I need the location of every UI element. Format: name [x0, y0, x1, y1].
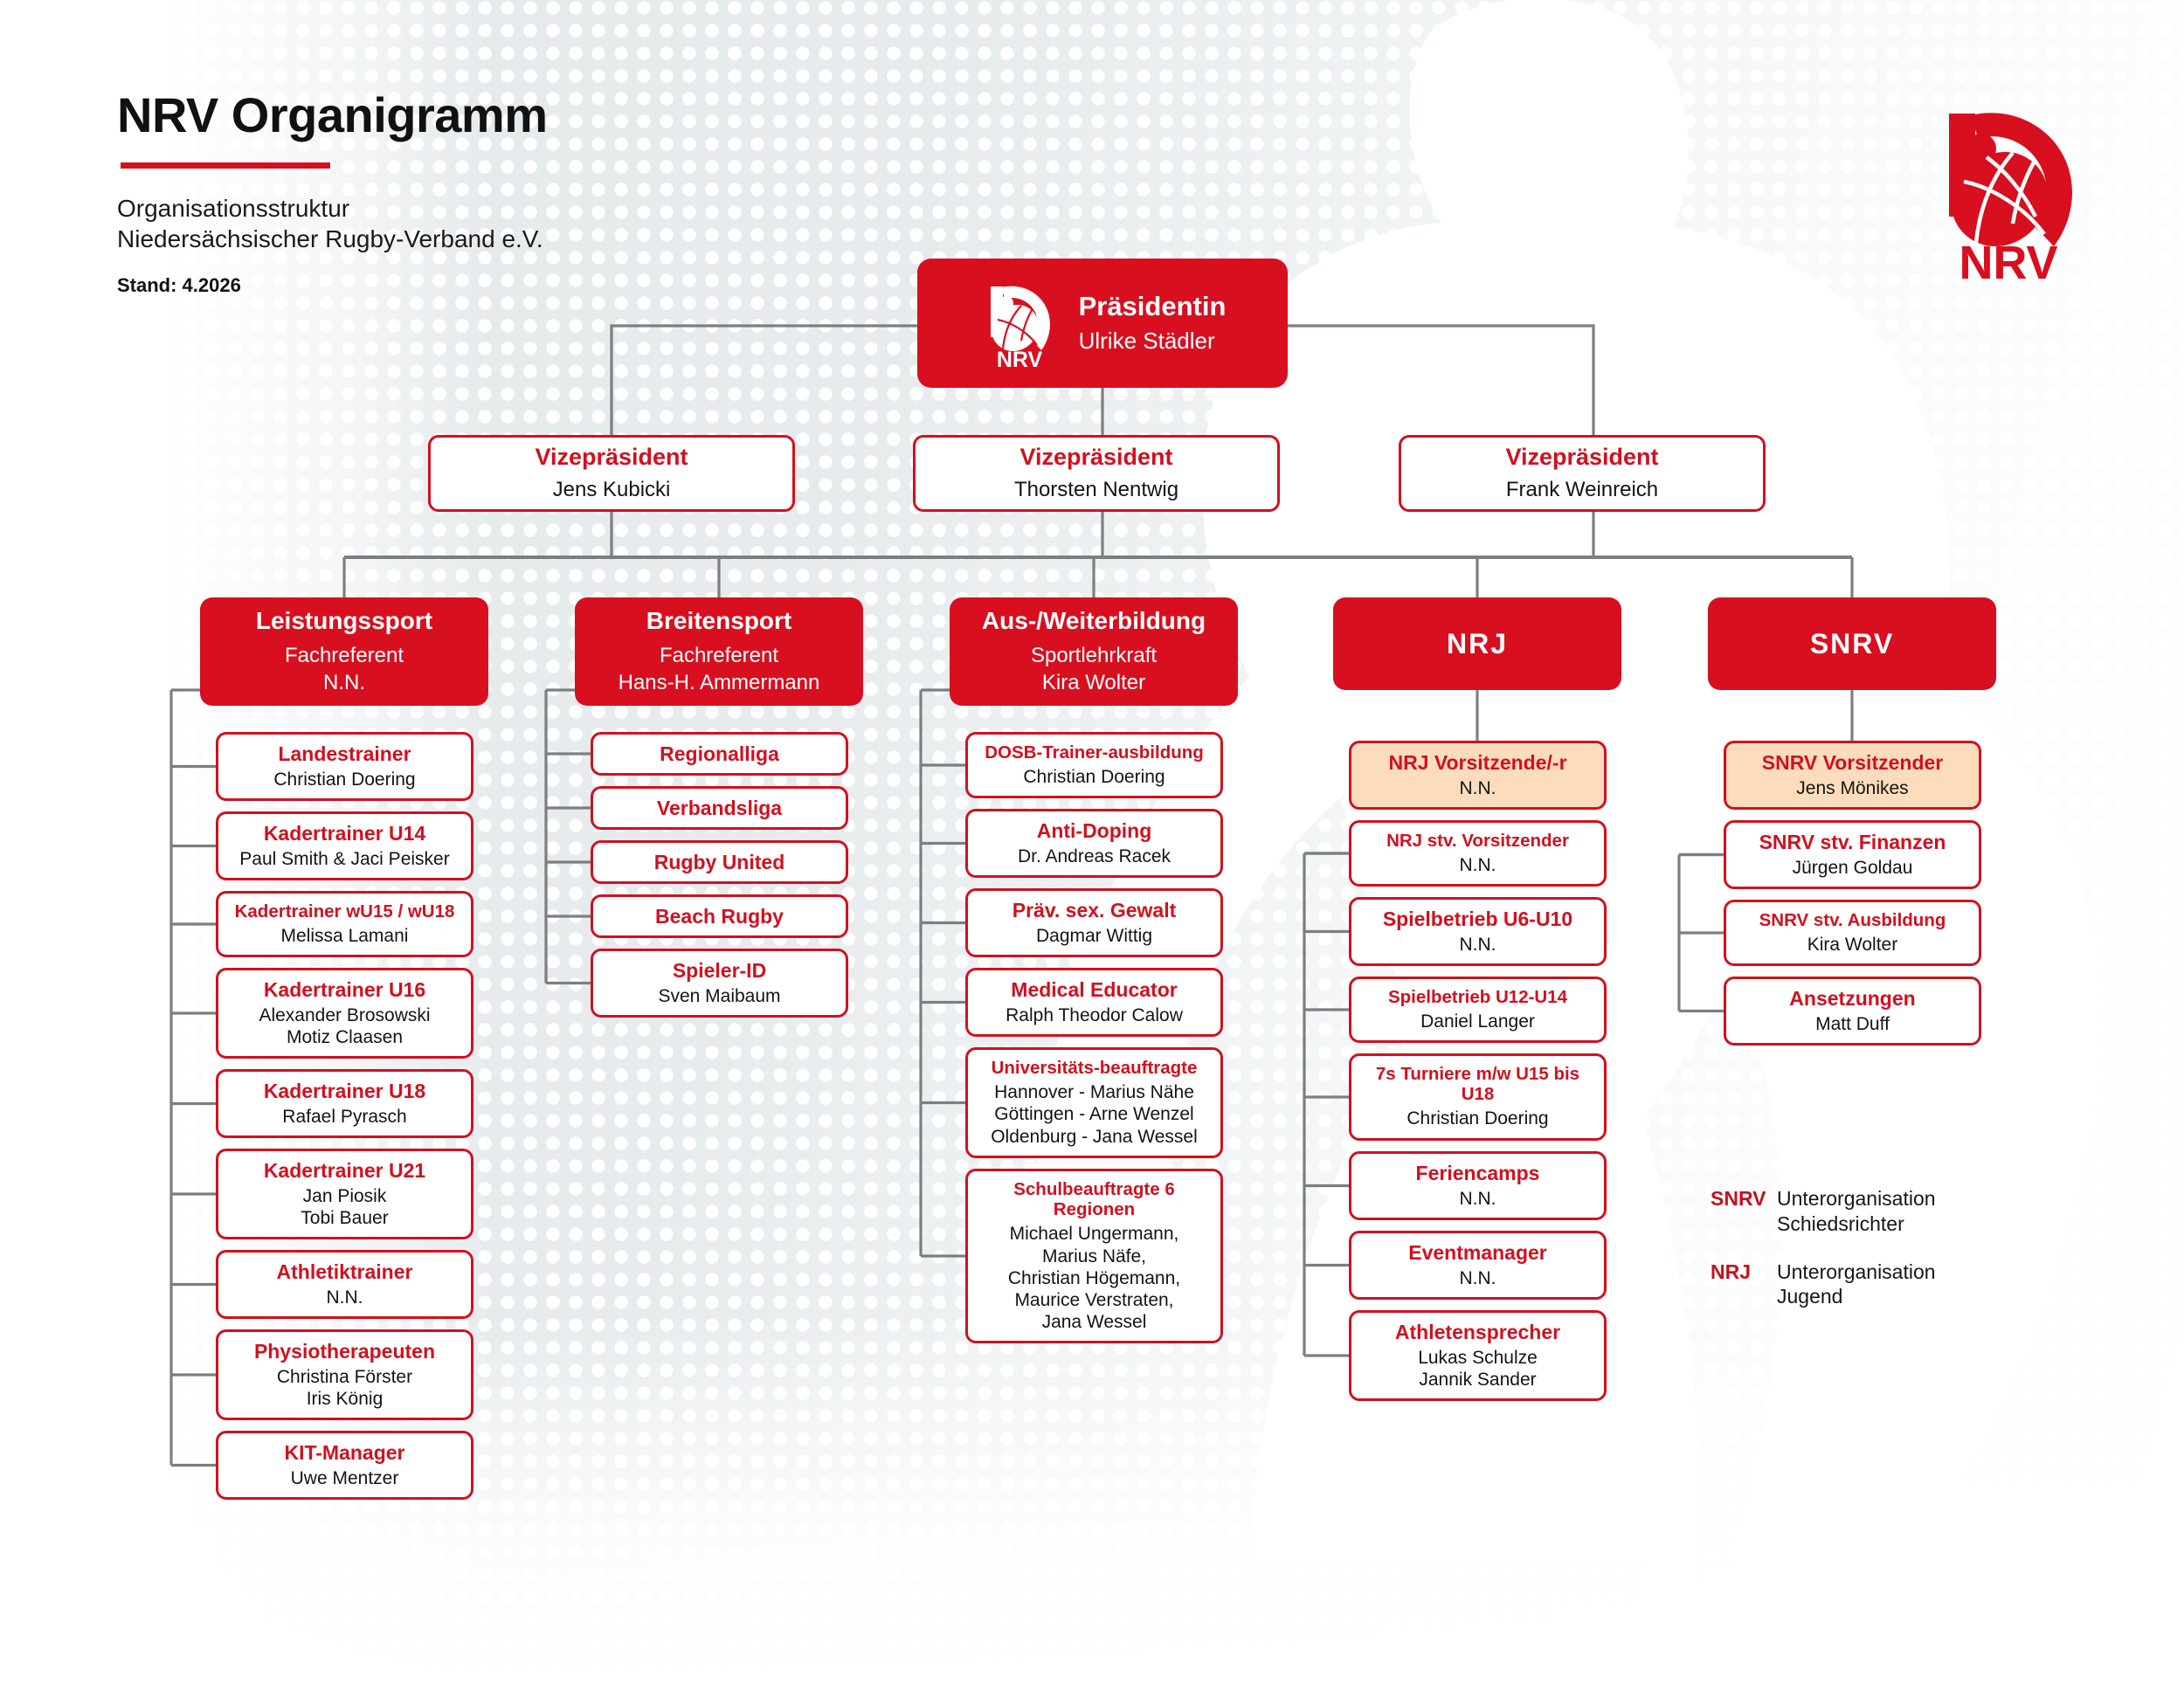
breitensport-item-4-name-0: Sven Maibaum	[658, 985, 780, 1007]
dept-2-title: Aus-/Weiterbildung	[982, 607, 1206, 635]
snrv-item-1-title: SNRV stv. Finanzen	[1759, 831, 1946, 853]
ausbildung-item-3-name-0: Ralph Theodor Calow	[1006, 1004, 1183, 1026]
ausbildung-item-0-name-0: Christian Doering	[1023, 766, 1165, 788]
node-ausbildung-item-2[interactable]: Präv. sex. GewaltDagmar Wittig	[965, 888, 1223, 957]
leistungssport-item-7-name-1: Iris König	[277, 1388, 412, 1410]
node-breitensport-item-2[interactable]: Rugby United	[591, 840, 848, 884]
svg-text:NRV: NRV	[996, 348, 1042, 369]
snrv-item-2-title: SNRV stv. Ausbildung	[1759, 910, 1946, 930]
dept-0-sub-1: Fachreferent	[285, 642, 404, 669]
subtitle-line-1: Organisationsstruktur	[117, 193, 547, 224]
snrv-item-0-title: SNRV Vorsitzender	[1762, 751, 1943, 774]
nrv-logo: NRV	[1925, 94, 2091, 282]
ausbildung-item-4-title: Universitäts-beauftragte	[992, 1058, 1198, 1078]
nrj-item-2-name-0: N.N.	[1460, 934, 1496, 956]
leistungssport-item-3-name-1: Motiz Claasen	[259, 1026, 430, 1048]
node-breitensport-item-1[interactable]: Verbandsliga	[591, 786, 848, 830]
legend-key-nrj: NRJ	[1711, 1260, 1777, 1285]
nrv-logo-icon: NRV	[979, 278, 1060, 369]
snrv-item-2-names: Kira Wolter	[1807, 934, 1897, 956]
node-leistungssport-item-8[interactable]: KIT-ManagerUwe Mentzer	[216, 1431, 473, 1500]
node-leistungssport-item-4[interactable]: Kadertrainer U18Rafael Pyrasch	[216, 1069, 473, 1138]
president-title: Präsidentin	[1079, 291, 1227, 321]
legend-key-snrv: SNRV	[1711, 1186, 1777, 1211]
leistungssport-item-5-name-0: Jan Piosik	[301, 1185, 388, 1207]
dept-1-sub-2: Hans-H. Ammermann	[619, 669, 820, 696]
leistungssport-item-1-names: Paul Smith & Jaci Peisker	[239, 848, 449, 870]
leistungssport-item-8-names: Uwe Mentzer	[291, 1467, 399, 1489]
legend-row-snrv: SNRV Unterorganisation Schiedsrichter	[1711, 1186, 1936, 1237]
dept-3-title: NRJ	[1447, 628, 1508, 659]
nrj-item-3-name-0: Daniel Langer	[1420, 1011, 1535, 1032]
legend-nrj-line1: Unterorganisation	[1777, 1260, 1936, 1285]
node-ausbildung-item-3[interactable]: Medical EducatorRalph Theodor Calow	[965, 968, 1223, 1037]
nrj-item-2-names: N.N.	[1460, 934, 1496, 956]
snrv-item-3-title: Ansetzungen	[1789, 987, 1915, 1010]
leistungssport-item-0-names: Christian Doering	[273, 769, 415, 790]
ausbildung-item-5-names: Michael Ungermann,Marius Näfe,Christian …	[1008, 1223, 1180, 1333]
nrj-item-6-names: N.N.	[1460, 1267, 1496, 1289]
ausbildung-item-2-name-0: Dagmar Wittig	[1036, 925, 1152, 947]
breitensport-item-4-names: Sven Maibaum	[658, 985, 780, 1007]
legend-snrv-line2: Schiedsrichter	[1777, 1211, 1936, 1237]
node-breitensport-item-0[interactable]: Regionalliga	[591, 732, 848, 776]
leistungssport-item-6-title: Athletiktrainer	[277, 1260, 413, 1283]
dept-0-sub: Fachreferent N.N.	[285, 642, 404, 696]
breitensport-item-4-title: Spieler-ID	[673, 959, 766, 982]
dept-4-title: SNRV	[1810, 628, 1894, 659]
vp-3-name: Frank Weinreich	[1506, 478, 1658, 503]
node-nrj-item-4[interactable]: 7s Turniere m/w U15 bis U18Christian Doe…	[1349, 1053, 1607, 1141]
nrj-item-1-names: N.N.	[1460, 854, 1496, 876]
node-breitensport-item-4[interactable]: Spieler-IDSven Maibaum	[591, 949, 848, 1018]
leistungssport-item-7-names: Christina FörsterIris König	[277, 1366, 412, 1410]
node-leistungssport-item-3[interactable]: Kadertrainer U16Alexander BrosowskiMotiz…	[216, 968, 473, 1059]
node-nrj-item-2[interactable]: Spielbetrieb U6-U10N.N.	[1349, 897, 1607, 966]
ausbildung-item-4-names: Hannover - Marius NäheGöttingen - Arne W…	[991, 1081, 1198, 1148]
legend-desc-nrj: Unterorganisation Jugend	[1777, 1260, 1936, 1310]
nrj-item-0-names: N.N.	[1460, 777, 1496, 799]
nrj-item-5-title: Feriencamps	[1416, 1162, 1540, 1184]
legend: SNRV Unterorganisation Schiedsrichter NR…	[1711, 1186, 1936, 1332]
president-name: Ulrike Städler	[1079, 328, 1215, 355]
node-vice-president-3[interactable]: Vizepräsident Frank Weinreich	[1399, 435, 1766, 512]
vp-2-name: Thorsten Nentwig	[1014, 478, 1178, 503]
leistungssport-item-4-title: Kadertrainer U18	[264, 1080, 425, 1102]
nrj-item-6-title: Eventmanager	[1408, 1241, 1547, 1264]
ausbildung-item-5-name-1: Marius Näfe,	[1008, 1246, 1180, 1267]
node-department-ausbildung[interactable]: Aus-/Weiterbildung Sportlehrkraft Kira W…	[950, 597, 1238, 706]
ausbildung-item-5-name-2: Christian Högemann,	[1008, 1267, 1180, 1289]
node-leistungssport-item-5[interactable]: Kadertrainer U21Jan PiosikTobi Bauer	[216, 1149, 473, 1239]
node-leistungssport-item-6[interactable]: AthletiktrainerN.N.	[216, 1250, 473, 1319]
nrj-item-7-name-0: Lukas Schulze	[1418, 1347, 1538, 1369]
ausbildung-item-0-names: Christian Doering	[1023, 766, 1165, 788]
subtitle-line-2: Niedersächsischer Rugby-Verband e.V.	[117, 224, 547, 254]
nrj-item-7-names: Lukas SchulzeJannik Sander	[1418, 1347, 1538, 1391]
nrj-item-3-title: Spielbetrieb U12-U14	[1388, 987, 1567, 1007]
node-vice-president-2[interactable]: Vizepräsident Thorsten Nentwig	[913, 435, 1280, 512]
node-snrv-item-0[interactable]: SNRV VorsitzenderJens Mönikes	[1724, 741, 1981, 810]
breitensport-item-2-title: Rugby United	[654, 851, 785, 873]
vp-1-name: Jens Kubicki	[553, 478, 671, 503]
ausbildung-item-3-title: Medical Educator	[1011, 978, 1177, 1001]
date-stamp: Stand: 4.2026	[117, 274, 547, 297]
ausbildung-item-1-title: Anti-Doping	[1037, 819, 1152, 842]
nrj-item-2-title: Spielbetrieb U6-U10	[1383, 908, 1572, 930]
leistungssport-item-5-names: Jan PiosikTobi Bauer	[301, 1185, 388, 1229]
legend-nrj-line2: Jugend	[1777, 1284, 1936, 1309]
nrj-item-0-name-0: N.N.	[1460, 777, 1496, 799]
snrv-item-0-names: Jens Mönikes	[1796, 777, 1908, 799]
snrv-item-0-name-0: Jens Mönikes	[1796, 777, 1908, 799]
leistungssport-item-1-title: Kadertrainer U14	[264, 822, 425, 845]
nrj-item-7-title: Athletensprecher	[1395, 1321, 1560, 1343]
dept-2-sub: Sportlehrkraft Kira Wolter	[1031, 642, 1157, 696]
vp-2-title: Vizepräsident	[1019, 444, 1172, 471]
snrv-item-3-name-0: Matt Duff	[1815, 1013, 1890, 1035]
leistungssport-item-4-names: Rafael Pyrasch	[282, 1106, 406, 1128]
leistungssport-item-8-name-0: Uwe Mentzer	[291, 1467, 399, 1489]
node-ausbildung-item-0[interactable]: DOSB-Trainer-ausbildungChristian Doering	[965, 732, 1223, 798]
ausbildung-item-4-name-1: Göttingen - Arne Wenzel	[991, 1103, 1198, 1125]
legend-snrv-line1: Unterorganisation	[1777, 1186, 1936, 1211]
leistungssport-item-2-names: Melissa Lamani	[281, 925, 409, 947]
nrj-item-0-title: NRJ Vorsitzende/-r	[1388, 751, 1566, 774]
nrj-item-1-title: NRJ stv. Vorsitzender	[1386, 831, 1569, 851]
snrv-item-1-names: Jürgen Goldau	[1793, 857, 1913, 879]
dept-0-title: Leistungssport	[256, 607, 432, 635]
leistungssport-item-2-name-0: Melissa Lamani	[281, 925, 409, 947]
breitensport-item-0-title: Regionalliga	[660, 742, 779, 765]
leistungssport-item-7-name-0: Christina Förster	[277, 1366, 412, 1388]
ausbildung-item-3-names: Ralph Theodor Calow	[1006, 1004, 1183, 1026]
node-ausbildung-item-5[interactable]: Schulbeauftragte 6 RegionenMichael Unger…	[965, 1169, 1223, 1343]
breitensport-item-1-title: Verbandsliga	[657, 797, 782, 819]
node-leistungssport-item-1[interactable]: Kadertrainer U14Paul Smith & Jaci Peiske…	[216, 811, 473, 880]
node-department-breitensport[interactable]: Breitensport Fachreferent Hans-H. Ammerm…	[575, 597, 863, 706]
leistungssport-item-8-title: KIT-Manager	[284, 1441, 404, 1464]
leistungssport-item-6-names: N.N.	[327, 1287, 363, 1308]
ausbildung-item-5-name-4: Jana Wessel	[1008, 1311, 1180, 1333]
legend-row-nrj: NRJ Unterorganisation Jugend	[1711, 1260, 1936, 1310]
snrv-item-1-name-0: Jürgen Goldau	[1793, 857, 1913, 879]
ausbildung-item-1-names: Dr. Andreas Racek	[1018, 845, 1171, 867]
dept-2-sub-2: Kira Wolter	[1031, 669, 1157, 696]
node-breitensport-item-3[interactable]: Beach Rugby	[591, 894, 848, 938]
leistungssport-item-5-name-1: Tobi Bauer	[301, 1207, 388, 1229]
ausbildung-item-0-title: DOSB-Trainer-ausbildung	[985, 742, 1204, 763]
nrj-item-4-names: Christian Doering	[1406, 1108, 1548, 1129]
nrj-item-4-title: 7s Turniere m/w U15 bis U18	[1358, 1064, 1597, 1104]
nrj-item-6-name-0: N.N.	[1460, 1267, 1496, 1289]
dept-1-sub: Fachreferent Hans-H. Ammermann	[619, 642, 820, 696]
node-department-snrv[interactable]: SNRV	[1708, 597, 1996, 690]
title-block: NRV Organigramm Organisationsstruktur Ni…	[117, 91, 547, 297]
nrj-item-5-name-0: N.N.	[1460, 1188, 1496, 1210]
ausbildung-item-5-title: Schulbeauftragte 6 Regionen	[975, 1179, 1213, 1219]
logo-wordmark: NRV	[1959, 237, 2057, 282]
nrj-item-4-name-0: Christian Doering	[1406, 1108, 1548, 1129]
ausbildung-item-5-name-3: Maurice Verstraten,	[1008, 1289, 1180, 1311]
node-nrj-item-1[interactable]: NRJ stv. VorsitzenderN.N.	[1349, 820, 1607, 887]
node-vice-president-1[interactable]: Vizepräsident Jens Kubicki	[428, 435, 795, 512]
snrv-item-3-names: Matt Duff	[1815, 1013, 1890, 1035]
leistungssport-item-5-title: Kadertrainer U21	[264, 1159, 425, 1182]
nrj-item-1-name-0: N.N.	[1460, 854, 1496, 876]
node-ausbildung-item-1[interactable]: Anti-DopingDr. Andreas Racek	[965, 809, 1223, 878]
node-snrv-item-1[interactable]: SNRV stv. FinanzenJürgen Goldau	[1724, 820, 1981, 889]
node-nrj-item-3[interactable]: Spielbetrieb U12-U14Daniel Langer	[1349, 977, 1607, 1043]
breitensport-item-3-title: Beach Rugby	[655, 905, 784, 928]
node-nrj-item-0[interactable]: NRJ Vorsitzende/-rN.N.	[1349, 741, 1607, 810]
node-nrj-item-6[interactable]: EventmanagerN.N.	[1349, 1231, 1607, 1300]
snrv-item-2-name-0: Kira Wolter	[1807, 934, 1897, 956]
ausbildung-item-4-name-0: Hannover - Marius Nähe	[991, 1081, 1198, 1103]
node-leistungssport-item-7[interactable]: PhysiotherapeutenChristina FörsterIris K…	[216, 1329, 473, 1420]
node-nrj-item-5[interactable]: FeriencampsN.N.	[1349, 1151, 1607, 1220]
leistungssport-item-7-title: Physiotherapeuten	[254, 1340, 435, 1363]
node-department-nrj[interactable]: NRJ	[1333, 597, 1621, 690]
leistungssport-item-6-name-0: N.N.	[327, 1287, 363, 1308]
node-nrj-item-7[interactable]: AthletensprecherLukas SchulzeJannik Sand…	[1349, 1310, 1607, 1401]
node-snrv-item-3[interactable]: AnsetzungenMatt Duff	[1724, 977, 1981, 1046]
leistungssport-item-3-title: Kadertrainer U16	[264, 978, 425, 1001]
leistungssport-item-3-name-0: Alexander Brosowski	[259, 1004, 430, 1026]
node-leistungssport-item-2[interactable]: Kadertrainer wU15 / wU18Melissa Lamani	[216, 891, 473, 957]
node-snrv-item-2[interactable]: SNRV stv. AusbildungKira Wolter	[1724, 900, 1981, 966]
ausbildung-item-1-name-0: Dr. Andreas Racek	[1018, 845, 1171, 867]
ausbildung-item-2-title: Präv. sex. Gewalt	[1013, 899, 1177, 921]
ausbildung-item-4-name-2: Oldenburg - Jana Wessel	[991, 1126, 1198, 1148]
dept-0-sub-2: N.N.	[285, 669, 404, 696]
dept-1-title: Breitensport	[646, 607, 791, 635]
vp-3-title: Vizepräsident	[1505, 444, 1658, 471]
nrj-item-3-names: Daniel Langer	[1420, 1011, 1535, 1032]
vp-1-title: Vizepräsident	[535, 444, 688, 471]
node-leistungssport-item-0[interactable]: LandestrainerChristian Doering	[216, 732, 473, 801]
ausbildung-item-5-name-0: Michael Ungermann,	[1008, 1223, 1180, 1245]
title-underline-rule	[121, 162, 330, 169]
leistungssport-item-4-name-0: Rafael Pyrasch	[282, 1106, 406, 1128]
leistungssport-item-0-name-0: Christian Doering	[273, 769, 415, 790]
leistungssport-item-3-names: Alexander BrosowskiMotiz Claasen	[259, 1004, 430, 1048]
legend-desc-snrv: Unterorganisation Schiedsrichter	[1777, 1186, 1936, 1237]
nrj-item-5-names: N.N.	[1460, 1188, 1496, 1210]
dept-2-sub-1: Sportlehrkraft	[1031, 642, 1157, 669]
node-ausbildung-item-4[interactable]: Universitäts-beauftragteHannover - Mariu…	[965, 1047, 1223, 1158]
leistungssport-item-0-title: Landestrainer	[278, 742, 411, 765]
nrj-item-7-name-1: Jannik Sander	[1418, 1369, 1538, 1391]
node-department-leistungssport[interactable]: Leistungssport Fachreferent N.N.	[200, 597, 488, 706]
leistungssport-item-2-title: Kadertrainer wU15 / wU18	[235, 901, 455, 921]
page-title: NRV Organigramm	[117, 91, 547, 140]
ausbildung-item-2-names: Dagmar Wittig	[1036, 925, 1152, 947]
leistungssport-item-1-name-0: Paul Smith & Jaci Peisker	[239, 848, 449, 870]
node-president[interactable]: NRV Präsidentin Ulrike Städler	[917, 259, 1288, 388]
dept-1-sub-1: Fachreferent	[619, 642, 820, 669]
